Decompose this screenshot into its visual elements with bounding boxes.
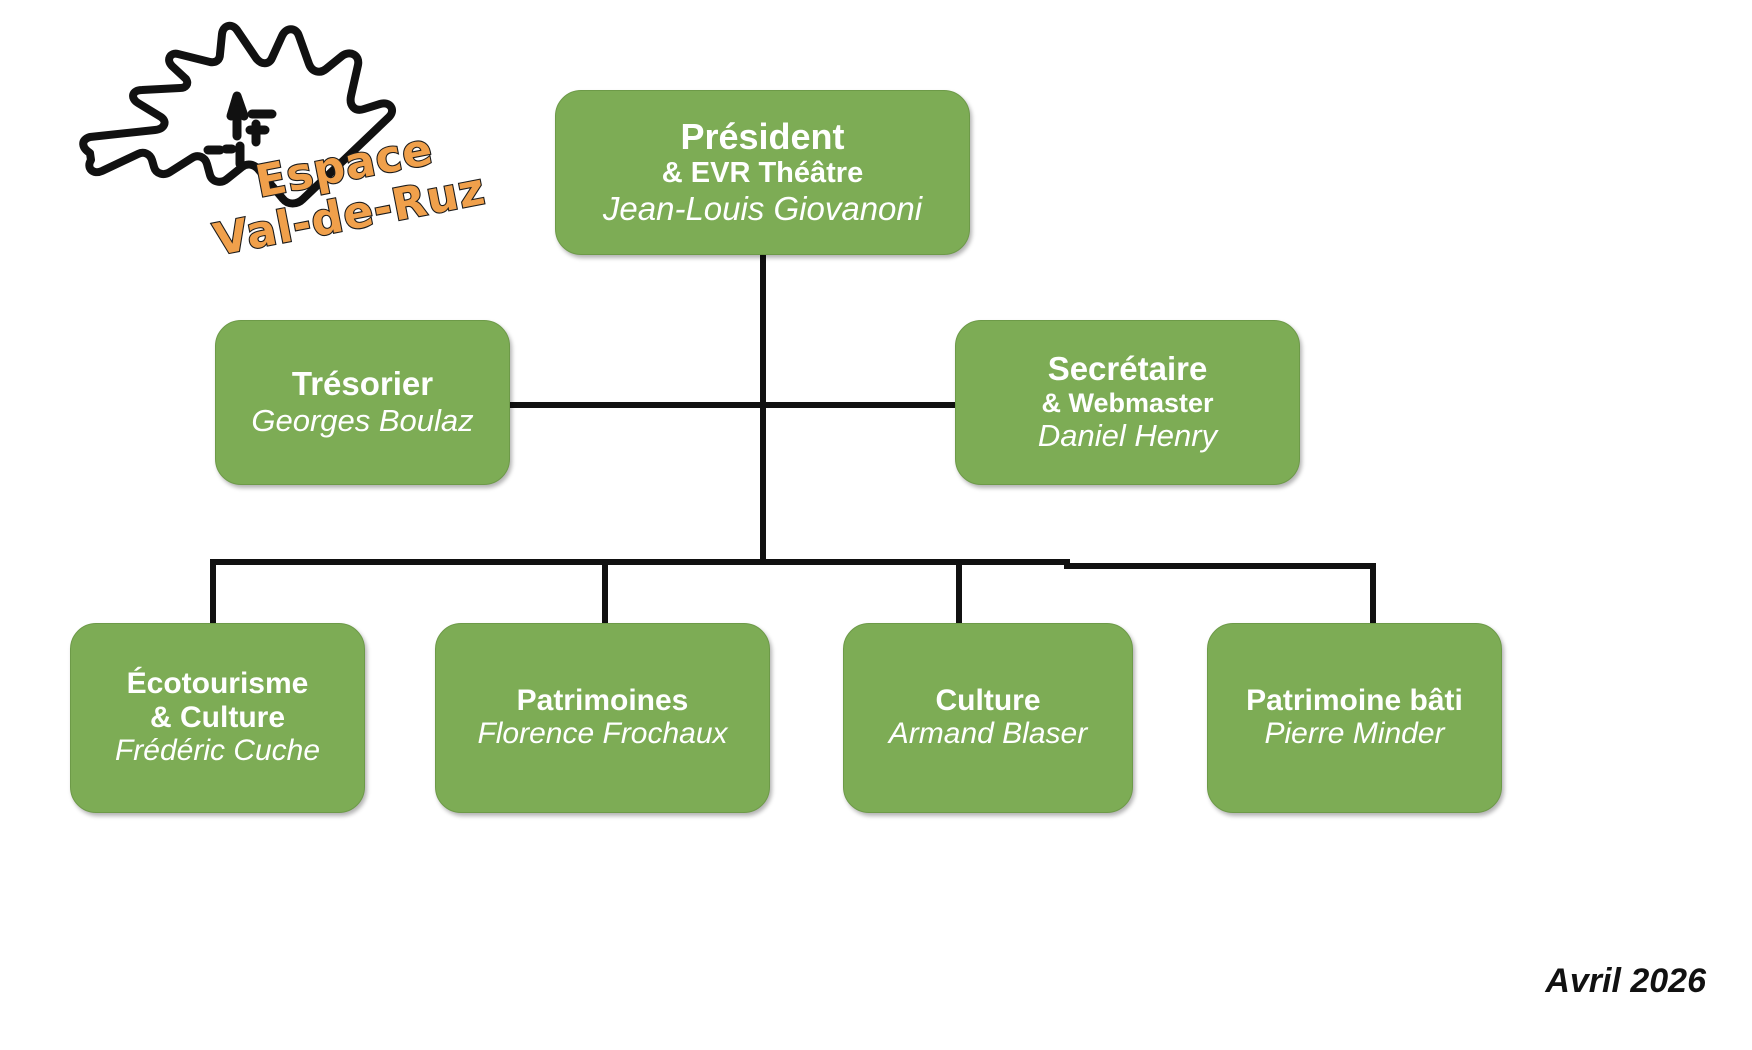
node-ecotourisme-title: Écotourisme xyxy=(127,667,309,701)
node-secretaire[interactable]: Secrétaire & Webmaster Daniel Henry xyxy=(955,320,1300,485)
node-tresorier[interactable]: Trésorier Georges Boulaz xyxy=(215,320,510,485)
node-tresorier-person: Georges Boulaz xyxy=(251,403,473,439)
node-president-title: Président xyxy=(680,117,844,157)
connector-distribution-bar-left xyxy=(210,559,1070,565)
node-culture[interactable]: Culture Armand Blaser xyxy=(843,623,1133,813)
node-tresorier-title: Trésorier xyxy=(292,366,433,403)
node-patrimoines[interactable]: Patrimoines Florence Frochaux xyxy=(435,623,770,813)
connector-drop-patrimoines xyxy=(602,559,608,625)
node-culture-title: Culture xyxy=(936,684,1041,718)
node-ecotourisme-person: Frédéric Cuche xyxy=(115,734,320,769)
node-patrimoines-person: Florence Frochaux xyxy=(477,717,727,752)
connector-drop-ecotourisme xyxy=(210,559,216,625)
connector-officers-horizontal xyxy=(508,402,960,408)
node-secretaire-subtitle: & Webmaster xyxy=(1041,388,1213,419)
node-president-subtitle: & EVR Théâtre xyxy=(662,157,863,190)
connector-drop-patrimoine-bati xyxy=(1370,563,1376,625)
connector-distribution-bar-right xyxy=(1064,563,1376,569)
node-patrimoine-bati-title: Patrimoine bâti xyxy=(1246,684,1463,718)
node-ecotourisme-title2: & Culture xyxy=(150,701,285,735)
date-label: Avril 2026 xyxy=(1545,962,1706,1001)
node-patrimoines-title: Patrimoines xyxy=(517,684,689,718)
connector-drop-culture xyxy=(956,559,962,625)
node-secretaire-title: Secrétaire xyxy=(1048,351,1208,388)
connector-president-spine xyxy=(760,253,766,565)
organigramme-canvas: Espace Val-de-Ruz Président & EVR Théâtr… xyxy=(0,0,1752,1050)
node-patrimoine-bati[interactable]: Patrimoine bâti Pierre Minder xyxy=(1207,623,1502,813)
node-president[interactable]: Président & EVR Théâtre Jean-Louis Giova… xyxy=(555,90,970,255)
node-secretaire-person: Daniel Henry xyxy=(1038,418,1217,454)
logo: Espace Val-de-Ruz xyxy=(60,18,480,293)
node-culture-person: Armand Blaser xyxy=(889,717,1087,752)
node-ecotourisme[interactable]: Écotourisme & Culture Frédéric Cuche xyxy=(70,623,365,813)
node-president-person: Jean-Louis Giovanoni xyxy=(603,190,922,228)
node-patrimoine-bati-person: Pierre Minder xyxy=(1264,717,1444,752)
